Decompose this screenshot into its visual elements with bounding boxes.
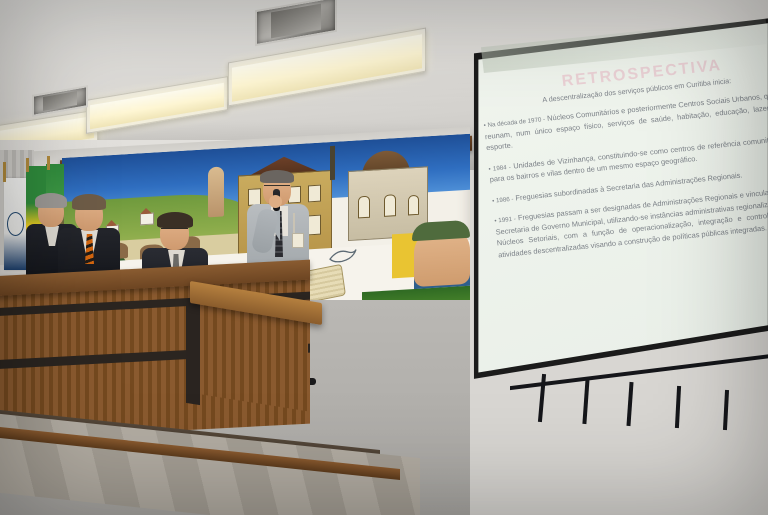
audience-chairs (510, 370, 768, 432)
council-chamber-photo: RETROSPECTIVA A descentralização dos ser… (0, 0, 768, 515)
bullet-year: • 1991 - (494, 216, 516, 225)
bullet-year: • 1986 - (492, 195, 514, 204)
dove-motif (328, 244, 358, 266)
id-badge (292, 233, 304, 248)
projection-screen: RETROSPECTIVA A descentralização dos ser… (455, 18, 768, 418)
desk-edge-trim (186, 299, 200, 405)
bullet-year: • 1984 - (488, 163, 511, 172)
slide-content: RETROSPECTIVA A descentralização dos ser… (473, 18, 768, 376)
municipal-flag (4, 178, 26, 270)
